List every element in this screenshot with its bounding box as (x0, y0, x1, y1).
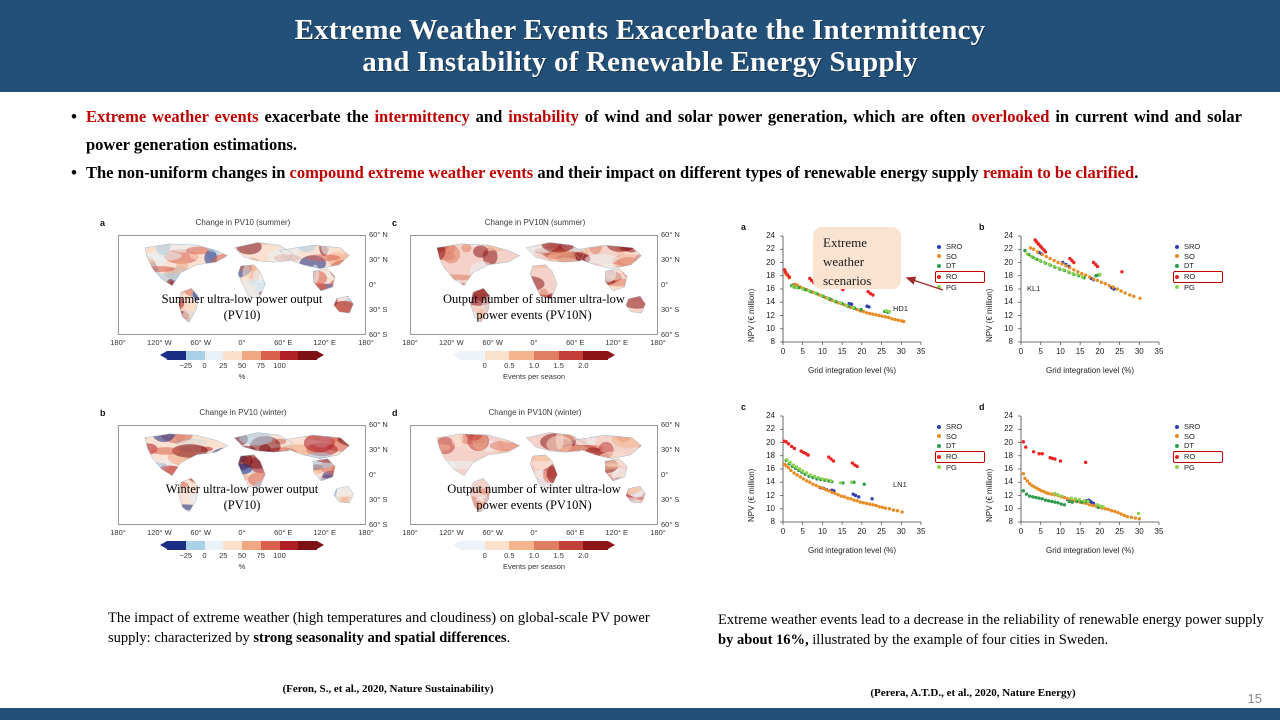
scatter-y-tick-label: 14 (1004, 297, 1013, 306)
map-lon-tick: 60° W (190, 528, 211, 537)
right-figure-caption: Extreme weather events lead to a decreas… (718, 610, 1270, 650)
scatter-x-tick-label: 25 (1115, 527, 1124, 536)
scatter-panel-letter: d (979, 402, 985, 412)
scatter-y-tick-label: 20 (1004, 438, 1013, 447)
map-lon-tick: 180° (358, 338, 374, 347)
scatter-x-tick-label: 0 (781, 347, 785, 356)
colorbar-gradient (167, 351, 317, 360)
map-lon-tick: 120° E (313, 528, 336, 537)
colorbar-tick-label: 50 (238, 551, 246, 560)
colorbar-tick-label: 1.5 (553, 361, 563, 370)
legend-label: SO (1184, 252, 1195, 262)
legend-label: SRO (1184, 422, 1200, 432)
legend-marker-icon (1175, 434, 1179, 438)
legend-label: DT (946, 441, 956, 451)
map-figure-group: aChange in PV10 (summer) Summer ultra-lo… (100, 218, 690, 598)
legend-label: RO (1184, 272, 1195, 282)
scatter-y-tick-label: 8 (771, 517, 775, 526)
map-lat-tick: 0° (661, 280, 668, 289)
legend-label: DT (1184, 261, 1194, 271)
legend-label: DT (1184, 441, 1194, 451)
scatter-y-tick-label: 10 (766, 324, 775, 333)
colorbar-tick-label: 100 (273, 551, 286, 560)
scatter-figure-group: aNPV (€ million)Grid integration level (… (735, 222, 1235, 600)
colorbar-tick-label: 1.0 (529, 361, 539, 370)
legend-label: PG (1184, 283, 1195, 293)
scatter-panel-b: bNPV (€ million)Grid integration level (… (973, 222, 1209, 400)
colorbar-tick-label: 75 (257, 551, 265, 560)
scatter-y-tick-label: 22 (766, 244, 775, 253)
map-lon-tick: 120° W (147, 528, 172, 537)
scatter-x-tick-label: 0 (781, 527, 785, 536)
legend-item-dt[interactable]: DT (1175, 441, 1223, 451)
map-title: Change in PV10 (winter) (100, 408, 386, 417)
bullet-text: Extreme weather events exacerbate the in… (86, 103, 1242, 159)
legend-item-so[interactable]: SO (1175, 252, 1223, 262)
map-lon-tick: 180° (650, 528, 666, 537)
scatter-y-tick-label: 16 (1004, 464, 1013, 473)
legend-marker-icon (937, 444, 941, 448)
map-lon-tick: 180° (402, 338, 418, 347)
scatter-y-tick-label: 18 (766, 271, 775, 280)
legend-label: RO (946, 452, 957, 462)
map-lat-tick: 30° N (369, 445, 388, 454)
bullet-segment: compound extreme weather events (290, 163, 534, 182)
colorbar-unit-label: Events per season (460, 372, 608, 381)
bullet-segment: Extreme weather events (86, 107, 259, 126)
legend-label: PG (946, 283, 957, 293)
bullet-segment: and their impact on different types of r… (533, 163, 983, 182)
legend-item-pg[interactable]: PG (1175, 463, 1223, 473)
scatter-y-tick-label: 16 (1004, 284, 1013, 293)
map-title: Change in PV10 (summer) (100, 218, 386, 227)
scatter-y-axis-title: NPV (€ million) (985, 469, 994, 522)
bullet-segment: of wind and solar power generation, whic… (579, 107, 972, 126)
legend-item-dt[interactable]: DT (1175, 261, 1223, 271)
scatter-annotation-ln1: LN1 (893, 480, 907, 489)
legend-marker-icon (1175, 455, 1179, 459)
map-lat-tick: 0° (369, 470, 376, 479)
bullet-segment: intermittency (374, 107, 469, 126)
scatter-y-tick-label: 16 (766, 284, 775, 293)
map-lon-tick: 120° W (147, 338, 172, 347)
map-panel-b: bChange in PV10 (winter) Winter ultra-lo… (100, 408, 386, 594)
scatter-x-tick-label: 30 (1135, 527, 1144, 536)
scatter-x-tick-label: 25 (1115, 347, 1124, 356)
scatter-x-axis-title: Grid integration level (%) (769, 546, 935, 555)
scatter-x-tick-label: 30 (897, 527, 906, 536)
colorbar-segment (205, 351, 224, 360)
legend-label: SO (1184, 432, 1195, 442)
map-image (118, 235, 366, 335)
scatter-y-tick-label: 24 (1004, 231, 1013, 240)
map-panel-a: aChange in PV10 (summer) Summer ultra-lo… (100, 218, 386, 404)
scatter-y-tick-label: 18 (1004, 271, 1013, 280)
bullet-segment: remain to be clarified (983, 163, 1134, 182)
map-lon-tick: 180° (110, 528, 126, 537)
colorbar-segment (205, 541, 224, 550)
map-lat-tick: 60° N (369, 420, 388, 429)
scatter-x-tick-label: 35 (1155, 527, 1164, 536)
colorbar-ticks: 00.51.01.52.0 (460, 361, 608, 372)
scatter-y-tick-label: 10 (766, 504, 775, 513)
colorbar-tick-label: 0.5 (504, 361, 514, 370)
scatter-x-tick-label: 5 (800, 527, 804, 536)
scatter-y-tick-label: 8 (1009, 337, 1013, 346)
colorbar-tick-label: −25 (179, 361, 192, 370)
caption-segment: illustrated by the example of four citie… (809, 632, 1109, 648)
title-banner: Extreme Weather Events Exacerbate the In… (0, 0, 1280, 92)
map-lon-tick: 120° W (439, 338, 464, 347)
legend-item-ro[interactable]: RO (1173, 271, 1223, 283)
bullet-segment: The non-uniform changes in (86, 163, 290, 182)
scatter-y-tick-label: 16 (766, 464, 775, 473)
scatter-x-tick-label: 25 (877, 527, 886, 536)
colorbar-ticks: −250255075100 (167, 551, 317, 562)
colorbar-segment (485, 351, 510, 360)
colorbar-segment (534, 351, 559, 360)
scatter-x-tick-label: 0 (1019, 347, 1023, 356)
colorbar-gradient (460, 541, 608, 550)
colorbar-segment (559, 351, 584, 360)
colorbar-segment (583, 351, 608, 360)
colorbar-left-cap-icon (160, 541, 167, 549)
scatter-y-tick-label: 8 (1009, 517, 1013, 526)
scatter-x-tick-label: 35 (1155, 347, 1164, 356)
colorbar-segment (167, 541, 186, 550)
caption-segment: . (507, 630, 511, 646)
map-lon-tick: 0° (238, 528, 245, 537)
map-colorbar: −250255075100% (167, 351, 317, 381)
colorbar-tick-label: 25 (219, 551, 227, 560)
map-lon-tick: 60° W (190, 338, 211, 347)
colorbar-segment (534, 541, 559, 550)
map-lat-tick: 60° N (661, 420, 680, 429)
scatter-y-tick-label: 18 (1004, 451, 1013, 460)
slide: Extreme Weather Events Exacerbate the In… (0, 0, 1280, 720)
colorbar-gradient (167, 541, 317, 550)
colorbar-segment (223, 541, 242, 550)
map-lat-tick: 30° N (369, 255, 388, 264)
scatter-y-tick-label: 20 (766, 438, 775, 447)
map-lon-tick: 60° W (482, 528, 503, 537)
scatter-x-tick-label: 15 (838, 347, 847, 356)
map-title: Change in PV10N (summer) (392, 218, 678, 227)
left-figure-caption: The impact of extreme weather (high temp… (108, 608, 668, 648)
legend-marker-icon (937, 254, 941, 258)
map-title: Change in PV10N (winter) (392, 408, 678, 417)
scatter-panel-c: cNPV (€ million)Grid integration level (… (735, 402, 971, 580)
scatter-y-tick-label: 24 (766, 231, 775, 240)
footer-bar (0, 708, 1280, 720)
colorbar-segment (186, 351, 205, 360)
colorbar-tick-label: 75 (257, 361, 265, 370)
colorbar-tick-label: 0 (202, 551, 206, 560)
map-colorbar: 00.51.01.52.0Events per season (460, 351, 608, 381)
scatter-y-tick-label: 22 (1004, 244, 1013, 253)
scatter-y-tick-label: 14 (766, 297, 775, 306)
colorbar-ticks: 00.51.01.52.0 (460, 551, 608, 562)
colorbar-segment (559, 541, 584, 550)
legend-marker-icon (937, 285, 941, 289)
legend-marker-icon (1175, 254, 1179, 258)
bullet-segment: . (1134, 163, 1138, 182)
colorbar-tick-label: 1.0 (529, 551, 539, 560)
legend-marker-icon (937, 245, 941, 249)
map-lon-tick: 0° (530, 338, 537, 347)
colorbar-right-cap-icon (317, 351, 324, 359)
colorbar-segment (261, 541, 280, 550)
legend-label: RO (946, 272, 957, 282)
map-image (410, 235, 658, 335)
scatter-y-tick-label: 20 (1004, 258, 1013, 267)
colorbar-segment (167, 351, 186, 360)
colorbar-left-cap-icon (160, 351, 167, 359)
map-lon-tick: 180° (650, 338, 666, 347)
legend-marker-icon (937, 264, 941, 268)
scatter-y-axis-title: NPV (€ million) (747, 289, 756, 342)
colorbar-segment (298, 541, 317, 550)
scatter-y-tick-label: 18 (766, 451, 775, 460)
right-figure-citation: (Perera, A.T.D., et al., 2020, Nature En… (718, 687, 1228, 699)
scatter-y-tick-label: 8 (771, 337, 775, 346)
map-lon-tick: 120° E (605, 528, 628, 537)
scatter-panel-letter: b (979, 222, 985, 232)
scatter-y-axis-title: NPV (€ million) (747, 469, 756, 522)
colorbar-segment (509, 351, 534, 360)
colorbar-unit-label: % (167, 372, 317, 381)
map-lat-tick: 30° S (369, 305, 387, 314)
scatter-y-tick-label: 24 (1004, 411, 1013, 420)
legend-marker-icon (1175, 444, 1179, 448)
scatter-y-tick-label: 10 (1004, 324, 1013, 333)
map-lat-tick: 30° S (369, 495, 387, 504)
legend-marker-icon (937, 465, 941, 469)
bullet-item: •Extreme weather events exacerbate the i… (62, 103, 1242, 159)
colorbar-segment (460, 541, 485, 550)
map-image (118, 425, 366, 525)
scatter-y-tick-label: 24 (766, 411, 775, 420)
colorbar-segment (583, 541, 608, 550)
colorbar-tick-label: 0 (483, 551, 487, 560)
colorbar-unit-label: Events per season (460, 562, 608, 571)
scatter-x-axis-title: Grid integration level (%) (1007, 366, 1173, 375)
colorbar-tick-label: 2.0 (578, 361, 588, 370)
bullet-item: •The non-uniform changes in compound ext… (62, 159, 1242, 187)
legend-marker-icon (1175, 275, 1179, 279)
colorbar-right-cap-icon (317, 541, 324, 549)
legend-marker-icon (937, 434, 941, 438)
bullet-marker-icon: • (62, 103, 86, 131)
bullet-segment: overlooked (971, 107, 1049, 126)
colorbar-segment (298, 351, 317, 360)
title-banner-inner: Extreme Weather Events Exacerbate the In… (295, 14, 986, 79)
map-lon-tick: 120° W (439, 528, 464, 537)
left-figure-citation: (Feron, S., et al., 2020, Nature Sustain… (108, 683, 668, 695)
map-lon-tick: 180° (358, 528, 374, 537)
colorbar-segment (186, 541, 205, 550)
legend-label: PG (946, 463, 957, 473)
scatter-legend: SROSODTROPG (1175, 422, 1223, 472)
scatter-x-tick-label: 15 (1076, 527, 1085, 536)
map-lat-tick: 60° N (369, 230, 388, 239)
map-colorbar: −250255075100% (167, 541, 317, 571)
caption-segment: by about 16%, (718, 632, 809, 648)
legend-label: SO (946, 432, 957, 442)
colorbar-ticks: −250255075100 (167, 361, 317, 372)
scatter-x-tick-label: 20 (1095, 527, 1104, 536)
colorbar-segment (223, 351, 242, 360)
scatter-annotation-hd1: HD1 (893, 304, 908, 313)
map-image (410, 425, 658, 525)
colorbar-segment (280, 351, 299, 360)
scatter-x-tick-label: 10 (1056, 527, 1065, 536)
scatter-y-tick-label: 12 (766, 311, 775, 320)
scatter-y-tick-label: 14 (766, 477, 775, 486)
scatter-x-tick-label: 35 (917, 347, 926, 356)
scatter-y-tick-label: 22 (1004, 424, 1013, 433)
scatter-plot-area (783, 416, 921, 522)
map-lon-tick: 60° W (482, 338, 503, 347)
legend-label: DT (946, 261, 956, 271)
map-lon-tick: 60° E (566, 528, 584, 537)
bullet-segment: and (470, 107, 509, 126)
scatter-x-tick-label: 35 (917, 527, 926, 536)
scatter-y-tick-label: 12 (1004, 311, 1013, 320)
page-number: 15 (1248, 691, 1262, 706)
scatter-x-tick-label: 20 (857, 527, 866, 536)
scatter-y-tick-label: 20 (766, 258, 775, 267)
bullet-list: •Extreme weather events exacerbate the i… (62, 103, 1242, 187)
scatter-legend: SROSODTROPG (1175, 242, 1223, 292)
legend-item-sro[interactable]: SRO (1175, 422, 1223, 432)
colorbar-left-cap-icon (453, 541, 460, 549)
scatter-x-tick-label: 10 (818, 527, 827, 536)
scatter-panel-letter: a (741, 222, 746, 232)
scatter-x-tick-label: 25 (877, 347, 886, 356)
legend-marker-icon (937, 425, 941, 429)
scatter-x-axis-title: Grid integration level (%) (769, 366, 935, 375)
scatter-x-tick-label: 15 (838, 527, 847, 536)
map-lat-tick: 30° S (661, 495, 679, 504)
map-colorbar: 00.51.01.52.0Events per season (460, 541, 608, 571)
caption-segment: strong seasonality and spatial differenc… (253, 630, 506, 646)
colorbar-right-cap-icon (608, 541, 615, 549)
scatter-y-axis-title: NPV (€ million) (985, 289, 994, 342)
scatter-x-tick-label: 20 (1095, 347, 1104, 356)
map-lat-tick: 30° N (661, 255, 680, 264)
colorbar-tick-label: −25 (179, 551, 192, 560)
scatter-x-tick-label: 15 (1076, 347, 1085, 356)
colorbar-tick-label: 100 (273, 361, 286, 370)
scatter-x-axis-title: Grid integration level (%) (1007, 546, 1173, 555)
legend-label: SRO (946, 242, 962, 252)
colorbar-tick-label: 25 (219, 361, 227, 370)
map-lon-tick: 180° (402, 528, 418, 537)
colorbar-tick-label: 0 (202, 361, 206, 370)
legend-item-pg[interactable]: PG (1175, 283, 1223, 293)
scatter-y-tick-label: 12 (1004, 491, 1013, 500)
scatter-y-tick-label: 22 (766, 424, 775, 433)
bullet-segment: instability (508, 107, 579, 126)
colorbar-right-cap-icon (608, 351, 615, 359)
scatter-panel-d: dNPV (€ million)Grid integration level (… (973, 402, 1209, 580)
legend-item-so[interactable]: SO (1175, 432, 1223, 442)
map-lat-tick: 60° N (661, 230, 680, 239)
page-title-line-2: and Instability of Renewable Energy Supp… (295, 46, 986, 78)
legend-marker-icon (1175, 285, 1179, 289)
colorbar-gradient (460, 351, 608, 360)
scatter-x-tick-label: 5 (1038, 527, 1042, 536)
map-lon-tick: 60° E (566, 338, 584, 347)
colorbar-segment (485, 541, 510, 550)
legend-marker-icon (1175, 465, 1179, 469)
legend-marker-icon (937, 275, 941, 279)
caption-segment: Extreme weather events lead to a decreas… (718, 612, 1264, 628)
scatter-x-tick-label: 30 (1135, 347, 1144, 356)
map-lon-tick: 120° E (605, 338, 628, 347)
scatter-x-tick-label: 10 (1056, 347, 1065, 356)
scatter-x-tick-label: 5 (800, 347, 804, 356)
map-lon-tick: 120° E (313, 338, 336, 347)
legend-marker-icon (1175, 245, 1179, 249)
scatter-y-tick-label: 12 (766, 491, 775, 500)
map-lat-tick: 30° S (661, 305, 679, 314)
page-title-line-1: Extreme Weather Events Exacerbate the In… (295, 14, 986, 46)
scatter-x-tick-label: 10 (818, 347, 827, 356)
map-panel-d: dChange in PV10N (winter) Output number … (392, 408, 678, 594)
scatter-x-tick-label: 0 (1019, 527, 1023, 536)
legend-item-sro[interactable]: SRO (1175, 242, 1223, 252)
colorbar-tick-label: 2.0 (578, 551, 588, 560)
legend-marker-icon (1175, 264, 1179, 268)
extreme-weather-scenarios-callout: Extreme weather scenarios (813, 227, 901, 289)
colorbar-tick-label: 1.5 (553, 551, 563, 560)
colorbar-left-cap-icon (453, 351, 460, 359)
scatter-x-tick-label: 30 (897, 347, 906, 356)
colorbar-segment (280, 541, 299, 550)
legend-item-ro[interactable]: RO (1173, 451, 1223, 463)
scatter-y-tick-label: 10 (1004, 504, 1013, 513)
legend-label: PG (1184, 463, 1195, 473)
legend-label: SRO (1184, 242, 1200, 252)
colorbar-tick-label: 50 (238, 361, 246, 370)
map-lat-tick: 0° (661, 470, 668, 479)
bullet-text: The non-uniform changes in compound extr… (86, 159, 1242, 187)
colorbar-segment (242, 541, 261, 550)
bullet-marker-icon: • (62, 159, 86, 187)
scatter-x-tick-label: 20 (857, 347, 866, 356)
legend-label: SO (946, 252, 957, 262)
map-lon-tick: 60° E (274, 528, 292, 537)
colorbar-unit-label: % (167, 562, 317, 571)
scatter-panel-letter: c (741, 402, 746, 412)
scatter-plot-area (1021, 236, 1159, 342)
bullet-segment: exacerbate the (259, 107, 375, 126)
colorbar-segment (261, 351, 280, 360)
colorbar-segment (242, 351, 261, 360)
colorbar-tick-label: 0.5 (504, 551, 514, 560)
scatter-plot-area (1021, 416, 1159, 522)
map-panel-c: cChange in PV10N (summer) Output number … (392, 218, 678, 404)
map-lat-tick: 0° (369, 280, 376, 289)
map-lon-tick: 60° E (274, 338, 292, 347)
legend-label: RO (1184, 452, 1195, 462)
scatter-x-tick-label: 5 (1038, 347, 1042, 356)
scatter-annotation-kl1: KL1 (1027, 284, 1040, 293)
map-lat-tick: 30° N (661, 445, 680, 454)
map-lon-tick: 0° (238, 338, 245, 347)
